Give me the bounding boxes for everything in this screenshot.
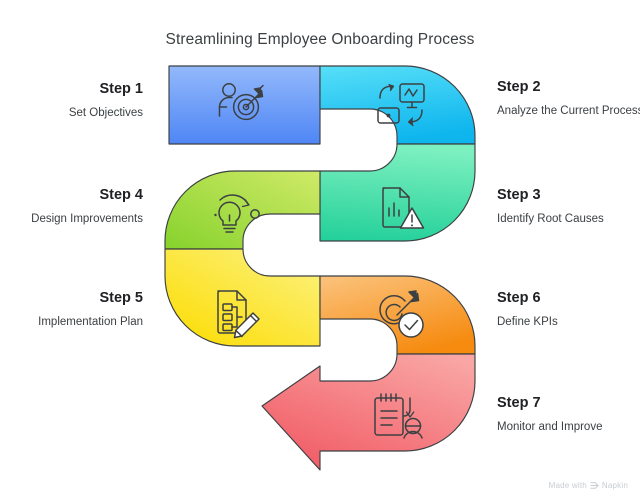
step-description: Design Improvements xyxy=(0,211,143,228)
step-number: Step 1 xyxy=(0,80,143,98)
segment-step-4 xyxy=(165,171,320,249)
step-label-3: Step 3 Identify Root Causes xyxy=(497,186,640,228)
step-description: Define KPIs xyxy=(497,314,640,331)
step-label-5: Step 5 Implementation Plan xyxy=(0,289,143,331)
napkin-brand-label: Napkin xyxy=(602,481,628,490)
napkin-logo-icon xyxy=(590,481,599,490)
step-label-7: Step 7 Monitor and Improve xyxy=(497,394,640,436)
made-with-label: Made with xyxy=(549,481,587,490)
step-number: Step 2 xyxy=(497,78,640,96)
segment-step-2 xyxy=(320,66,475,144)
step-number: Step 7 xyxy=(497,394,640,412)
step-number: Step 5 xyxy=(0,289,143,307)
step-label-4: Step 4 Design Improvements xyxy=(0,186,143,228)
step-label-6: Step 6 Define KPIs xyxy=(497,289,640,331)
step-description: Analyze the Current Process xyxy=(497,103,640,120)
step-label-2: Step 2 Analyze the Current Process xyxy=(497,78,640,120)
step-description: Monitor and Improve xyxy=(497,419,640,436)
step-number: Step 3 xyxy=(497,186,640,204)
step-description: Identify Root Causes xyxy=(497,211,640,228)
step-label-1: Step 1 Set Objectives xyxy=(0,80,143,122)
made-with-napkin-watermark[interactable]: Made with Napkin xyxy=(549,481,628,490)
step-number: Step 4 xyxy=(0,186,143,204)
step-description: Implementation Plan xyxy=(0,314,143,331)
segment-step-7-arrow xyxy=(262,354,475,470)
target-check-icon xyxy=(380,291,423,337)
step-description: Set Objectives xyxy=(0,105,143,122)
step-number: Step 6 xyxy=(497,289,640,307)
